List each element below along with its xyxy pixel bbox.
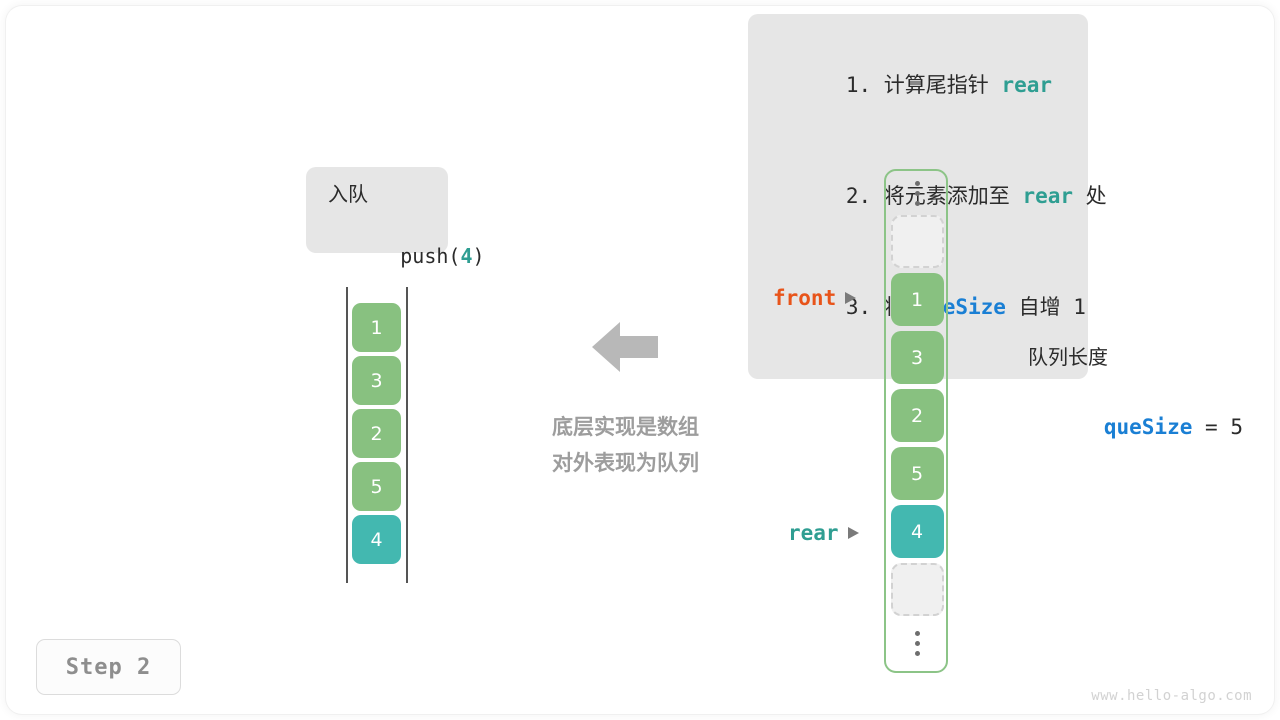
array-cell: 4 xyxy=(891,505,944,558)
operation-title: 入队 xyxy=(328,179,448,210)
queue-cell: 1 xyxy=(352,303,401,352)
diagram-canvas: 1. 计算尾指针 rear 2. 将元素添加至 rear 处 3. 将 queS… xyxy=(0,0,1280,720)
queue-rail-right xyxy=(406,287,408,583)
array-cell: 5 xyxy=(891,447,944,500)
array-bottom-ellipsis-icon xyxy=(889,621,945,665)
operation-call-suffix: ) xyxy=(473,244,485,268)
center-caption: 底层实现是数组 对外表现为队列 xyxy=(528,409,723,481)
instruction-line-3-suffix: 自增 1 xyxy=(1006,295,1086,319)
left-arrow-icon xyxy=(592,320,658,374)
array-implementation-view: 1 3 2 5 4 xyxy=(884,169,948,673)
instruction-line-1-code: rear xyxy=(1001,73,1052,97)
operation-label-box: 入队 push(4) xyxy=(306,167,448,253)
array-cell-empty xyxy=(891,563,944,616)
array-cell-empty xyxy=(891,215,944,268)
quesize-caption: 队列长度 xyxy=(1028,341,1243,373)
instruction-line-1: 1. 计算尾指针 rear xyxy=(748,30,1088,141)
instruction-line-2-suffix: 处 xyxy=(1073,184,1107,208)
array-cell: 3 xyxy=(891,331,944,384)
quesize-note: 队列长度 queSize = 5 xyxy=(1028,341,1243,481)
center-caption-line-1: 底层实现是数组 xyxy=(528,409,723,445)
instruction-line-1-prefix: 1. 计算尾指针 xyxy=(846,73,1002,97)
quesize-equals: = xyxy=(1192,415,1230,439)
center-caption-line-2: 对外表现为队列 xyxy=(528,445,723,481)
front-pointer-arrow-icon xyxy=(845,292,856,304)
array-top-ellipsis-icon xyxy=(889,171,945,215)
operation-call-value: 4 xyxy=(460,244,472,268)
instruction-line-2-code: rear xyxy=(1022,184,1073,208)
array-cell: 1 xyxy=(891,273,944,326)
queue-cell: 2 xyxy=(352,409,401,458)
quesize-expression: queSize = 5 xyxy=(1028,373,1243,481)
front-pointer-label: front xyxy=(773,286,856,310)
front-pointer-text: front xyxy=(773,286,836,310)
rear-pointer-label: rear xyxy=(788,521,859,545)
rear-pointer-arrow-icon xyxy=(848,527,859,539)
quesize-var-name: queSize xyxy=(1104,415,1193,439)
queue-cell: 4 xyxy=(352,515,401,564)
step-badge: Step 2 xyxy=(36,639,181,695)
array-cell: 2 xyxy=(891,389,944,442)
queue-cell: 5 xyxy=(352,462,401,511)
queue-cell: 3 xyxy=(352,356,401,405)
rear-pointer-text: rear xyxy=(788,521,839,545)
queue-cell-list: 1 3 2 5 4 xyxy=(352,303,401,568)
operation-call-prefix: push( xyxy=(400,244,460,268)
watermark: www.hello-algo.com xyxy=(1091,688,1252,704)
quesize-value: 5 xyxy=(1230,415,1243,439)
queue-abstract-view: 1 3 2 5 4 xyxy=(346,287,408,583)
array-cell-list: 1 3 2 5 4 xyxy=(889,171,945,665)
queue-rail-left xyxy=(346,287,348,583)
